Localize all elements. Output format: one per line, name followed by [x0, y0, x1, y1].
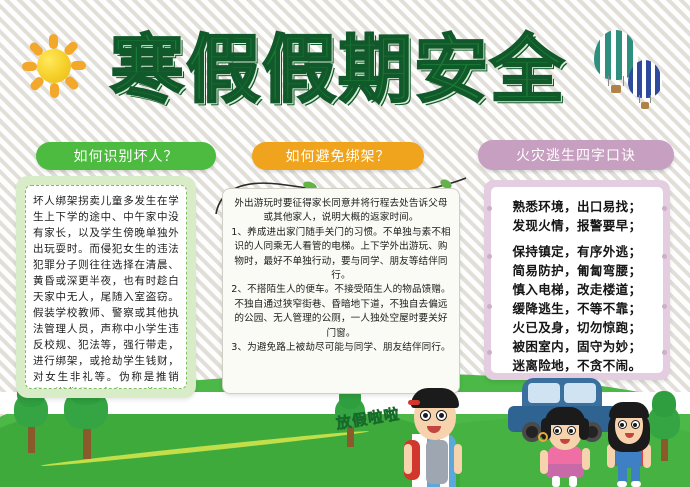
panel-mid-body: 外出游玩时要征得家长同意并将行程去处告诉父母或其他家人，说明大概的返家时间。 1… [231, 197, 451, 355]
balloons-group [590, 24, 680, 130]
girl-character [600, 402, 658, 487]
panel-identify-bad-people: 坏人绑架拐卖儿童多发生在学生上下学的途中、中午家中没有家长，以及学生傍晚单独外出… [16, 176, 196, 398]
fire-line-5: 慎入电梯，改走楼道； [497, 280, 657, 299]
fire-line-7: 火已及身，切勿惊跑； [497, 318, 657, 337]
panel-left-inner: 坏人绑架拐卖儿童多发生在学生上下学的途中、中午家中没有家长，以及学生傍晚单独外出… [25, 185, 187, 389]
fire-line-4: 简易防护，匍匐弯腰； [497, 261, 657, 280]
fire-line-9: 迷离险地，不贪不闹。 [497, 356, 657, 373]
panel-mid-item-2: 2、不搭陌生人的便车。不接受陌生人的物品馈赠。不独自通过狭窄街巷、昏暗地下道，不… [231, 283, 451, 341]
fire-line-3: 保持镇定，有序外逃； [497, 242, 657, 261]
section-heading-avoid-kidnapping: 如何避免绑架？ [252, 142, 424, 170]
section-heading-identify-bad-people: 如何识别坏人？ [36, 142, 216, 170]
section-heading-fire-escape: 火灾逃生四字口诀 [478, 140, 674, 170]
panel-mid-intro: 外出游玩时要征得家长同意并将行程去处告诉父母或其他家人，说明大概的返家时间。 [231, 197, 451, 226]
page-title: 寒假假期安全 [88, 26, 588, 114]
girl-character [536, 408, 594, 487]
sun-icon [24, 36, 84, 96]
fire-line-8: 被困室内，固守为妙； [497, 337, 657, 356]
panel-mid-item-1: 1、养成进出家门随手关门的习惯。不单独与素不相识的人同乘无人看管的电梯。上下学外… [231, 226, 451, 284]
poster-canvas: 寒假假期安全 如何识别坏人？ 如何避免绑架？ 火灾逃生四字口诀 坏人绑架拐卖儿童… [0, 0, 690, 487]
fire-line-2: 发现火情，报警要早； [497, 216, 657, 235]
panel-fire-escape: 熟悉环境，出口易找； 发现火情，报警要早； 保持镇定，有序外逃； 简易防护，匍匐… [484, 180, 670, 380]
boy-character [400, 388, 470, 487]
panel-left-body: 坏人绑架拐卖儿童多发生在学生上下学的途中、中午家中没有家长，以及学生傍晚单独外出… [33, 193, 179, 389]
fire-line-6: 缓降逃生，不等不靠； [497, 299, 657, 318]
panel-avoid-kidnapping: 外出游玩时要征得家长同意并将行程去处告诉父母或其他家人，说明大概的返家时间。 1… [222, 188, 460, 394]
panel-right-body: 熟悉环境，出口易找； 发现火情，报警要早； 保持镇定，有序外逃； 简易防护，匍匐… [497, 197, 657, 373]
panel-right-inner: 熟悉环境，出口易找； 发现火情，报警要早； 保持镇定，有序外逃； 简易防护，匍匐… [491, 187, 663, 373]
panel-mid-item-3: 3、为避免路上被劫尽可能与同学、朋友结伴同行。 [231, 341, 451, 355]
hot-air-balloon-icon [628, 60, 662, 118]
fire-line-1: 熟悉环境，出口易找； [497, 197, 657, 216]
